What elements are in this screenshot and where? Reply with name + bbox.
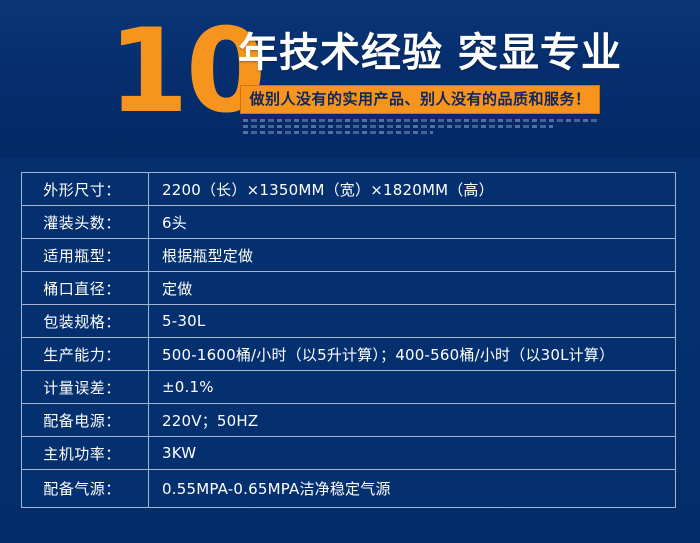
table-row: 包装规格： 5-30L <box>22 305 676 338</box>
header-banner: 10 年技术经验 突显专业 做别人没有的实用产品、别人没有的品质和服务！ <box>0 0 700 158</box>
specification-table: 外形尺寸： 2200（长）×1350MM（宽）×1820MM（高） 灌装头数： … <box>21 172 676 508</box>
table-row: 灌装头数： 6头 <box>22 206 676 239</box>
spec-value: 220V；50HZ <box>149 404 676 437</box>
spec-label: 包装规格： <box>22 305 149 338</box>
filler-line <box>243 119 598 122</box>
spec-value: 5-30L <box>149 305 676 338</box>
spec-value: 2200（长）×1350MM（宽）×1820MM（高） <box>149 173 676 206</box>
spec-label: 配备电源： <box>22 404 149 437</box>
spec-value: 6头 <box>149 206 676 239</box>
years-number: 10 <box>108 16 238 128</box>
headline-text: 年技术经验 突显专业 <box>238 28 622 78</box>
spec-label: 桶口直径： <box>22 272 149 305</box>
spec-value: 根据瓶型定做 <box>149 239 676 272</box>
table-row: 桶口直径： 定做 <box>22 272 676 305</box>
table-row: 外形尺寸： 2200（长）×1350MM（宽）×1820MM（高） <box>22 173 676 206</box>
spec-label: 适用瓶型： <box>22 239 149 272</box>
table-row: 生产能力： 500-1600桶/小时（以5升计算）；400-560桶/小时（以3… <box>22 338 676 371</box>
spec-label: 灌装头数： <box>22 206 149 239</box>
subtitle-bar: 做别人没有的实用产品、别人没有的品质和服务！ <box>240 85 600 114</box>
spec-value: ±0.1% <box>149 371 676 404</box>
spec-label: 主机功率： <box>22 437 149 470</box>
decorative-filler-text <box>243 119 598 139</box>
subtitle-text: 做别人没有的实用产品、别人没有的品质和服务！ <box>249 92 590 107</box>
spec-value: 3KW <box>149 437 676 470</box>
spec-label: 生产能力： <box>22 338 149 371</box>
spec-value: 定做 <box>149 272 676 305</box>
table-row: 配备气源： 0.55MPA-0.65MPA洁净稳定气源 <box>22 470 676 508</box>
spec-value: 500-1600桶/小时（以5升计算）；400-560桶/小时（以30L计算） <box>149 338 676 371</box>
spec-value: 0.55MPA-0.65MPA洁净稳定气源 <box>149 470 676 508</box>
spec-label: 外形尺寸： <box>22 173 149 206</box>
table-row: 适用瓶型： 根据瓶型定做 <box>22 239 676 272</box>
specification-table-body: 外形尺寸： 2200（长）×1350MM（宽）×1820MM（高） 灌装头数： … <box>22 173 676 508</box>
page-root: 10 年技术经验 突显专业 做别人没有的实用产品、别人没有的品质和服务！ 外形尺… <box>0 0 700 543</box>
table-row: 配备电源： 220V；50HZ <box>22 404 676 437</box>
spec-label: 计量误差： <box>22 371 149 404</box>
filler-line <box>243 125 553 128</box>
spec-label: 配备气源： <box>22 470 149 508</box>
table-row: 主机功率： 3KW <box>22 437 676 470</box>
filler-line <box>243 131 433 134</box>
table-row: 计量误差： ±0.1% <box>22 371 676 404</box>
